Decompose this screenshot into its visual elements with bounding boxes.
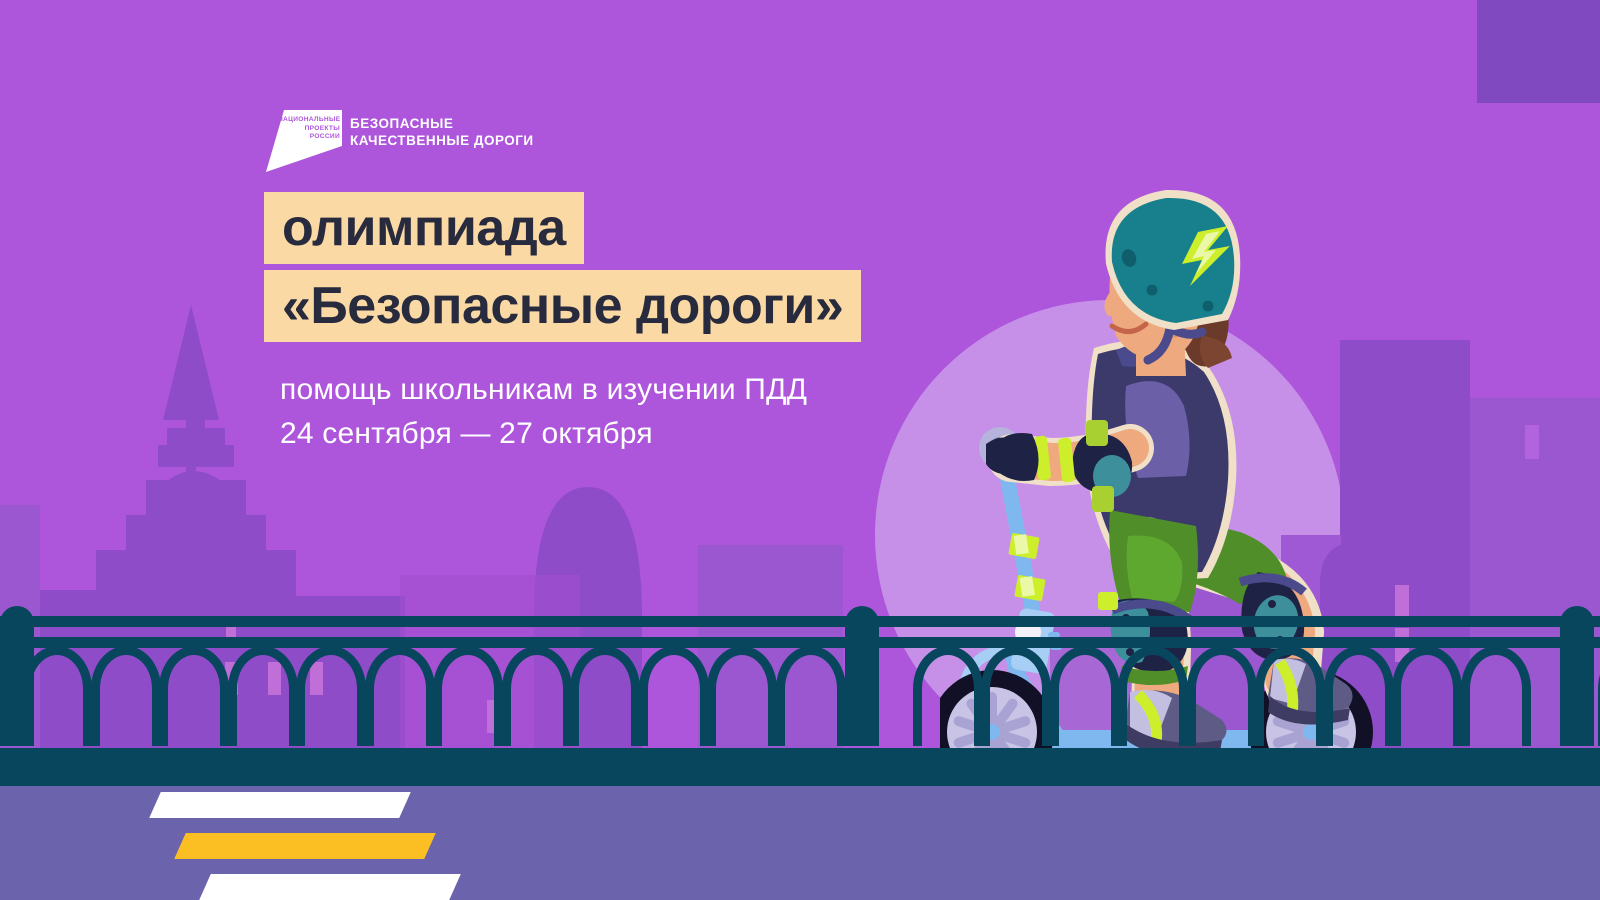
railing-arch <box>433 646 503 746</box>
railing-arch <box>1187 646 1257 746</box>
railing-arch <box>1050 646 1120 746</box>
building-corner-topright <box>1477 0 1600 103</box>
railing-arch <box>1392 646 1462 746</box>
logo-flag-line-1: НАЦИОНАЛЬНЫЕ <box>278 116 340 125</box>
railing-post <box>845 606 879 746</box>
crosswalk-stripe-yellow <box>174 833 436 859</box>
helmet-vent-2 <box>1147 285 1158 296</box>
railing-arch <box>91 646 161 746</box>
railing-top-rail <box>0 616 1600 627</box>
logo-program-name: БЕЗОПАСНЫЕ КАЧЕСТВЕННЫЕ ДОРОГИ <box>350 116 534 149</box>
railing-arch <box>228 646 298 746</box>
railing-arch <box>159 646 229 746</box>
railing-arch <box>1118 646 1188 746</box>
railing-arch <box>1461 646 1531 746</box>
glove <box>986 433 1039 481</box>
logo-program-line-2: КАЧЕСТВЕННЫЕ ДОРОГИ <box>350 133 534 150</box>
logo-flag-line-2: ПРОЕКТЫ <box>278 125 340 134</box>
headline-line-1: олимпиада <box>264 192 584 264</box>
railing-arch <box>570 646 640 746</box>
hair-back-tuft <box>1200 336 1232 368</box>
subtitle-line-1: помощь школьникам в изучении ПДД <box>280 368 807 412</box>
railing-arch <box>502 646 572 746</box>
railing-arch <box>639 646 709 746</box>
bridge-railing <box>0 592 1600 792</box>
railing-arch <box>776 646 846 746</box>
scooter-reflective-tape-upper <box>1008 532 1039 559</box>
railing-post <box>0 606 34 746</box>
window-accent-3 <box>1525 425 1539 459</box>
headline-line-2: «Безопасные дороги» <box>264 270 861 342</box>
helmet-vent-3 <box>1203 301 1214 312</box>
railing-arch <box>707 646 777 746</box>
railing-post <box>1560 606 1594 746</box>
road-surface <box>0 786 1600 900</box>
railing-arch <box>365 646 435 746</box>
railing-arch <box>296 646 366 746</box>
railing-arch <box>1255 646 1325 746</box>
railing-arch <box>981 646 1051 746</box>
subtitle: помощь школьникам в изучении ПДД 24 сент… <box>280 368 807 456</box>
logo-flag-text: НАЦИОНАЛЬНЫЕ ПРОЕКТЫ РОССИИ <box>278 116 340 142</box>
promo-banner: НАЦИОНАЛЬНЫЕ ПРОЕКТЫ РОССИИ БЕЗОПАСНЫЕ К… <box>0 0 1600 900</box>
railing-arch <box>913 646 983 746</box>
crosswalk-stripe-white-2 <box>199 874 461 900</box>
logo-flag-line-3: РОССИИ <box>278 133 340 142</box>
railing-arch <box>1324 646 1394 746</box>
crosswalk-stripe-white-1 <box>149 792 411 818</box>
subtitle-line-2: 24 сентября — 27 октября <box>280 412 807 456</box>
logo: НАЦИОНАЛЬНЫЕ ПРОЕКТЫ РОССИИ БЕЗОПАСНЫЕ К… <box>264 110 684 172</box>
logo-program-line-1: БЕЗОПАСНЫЕ <box>350 116 534 133</box>
